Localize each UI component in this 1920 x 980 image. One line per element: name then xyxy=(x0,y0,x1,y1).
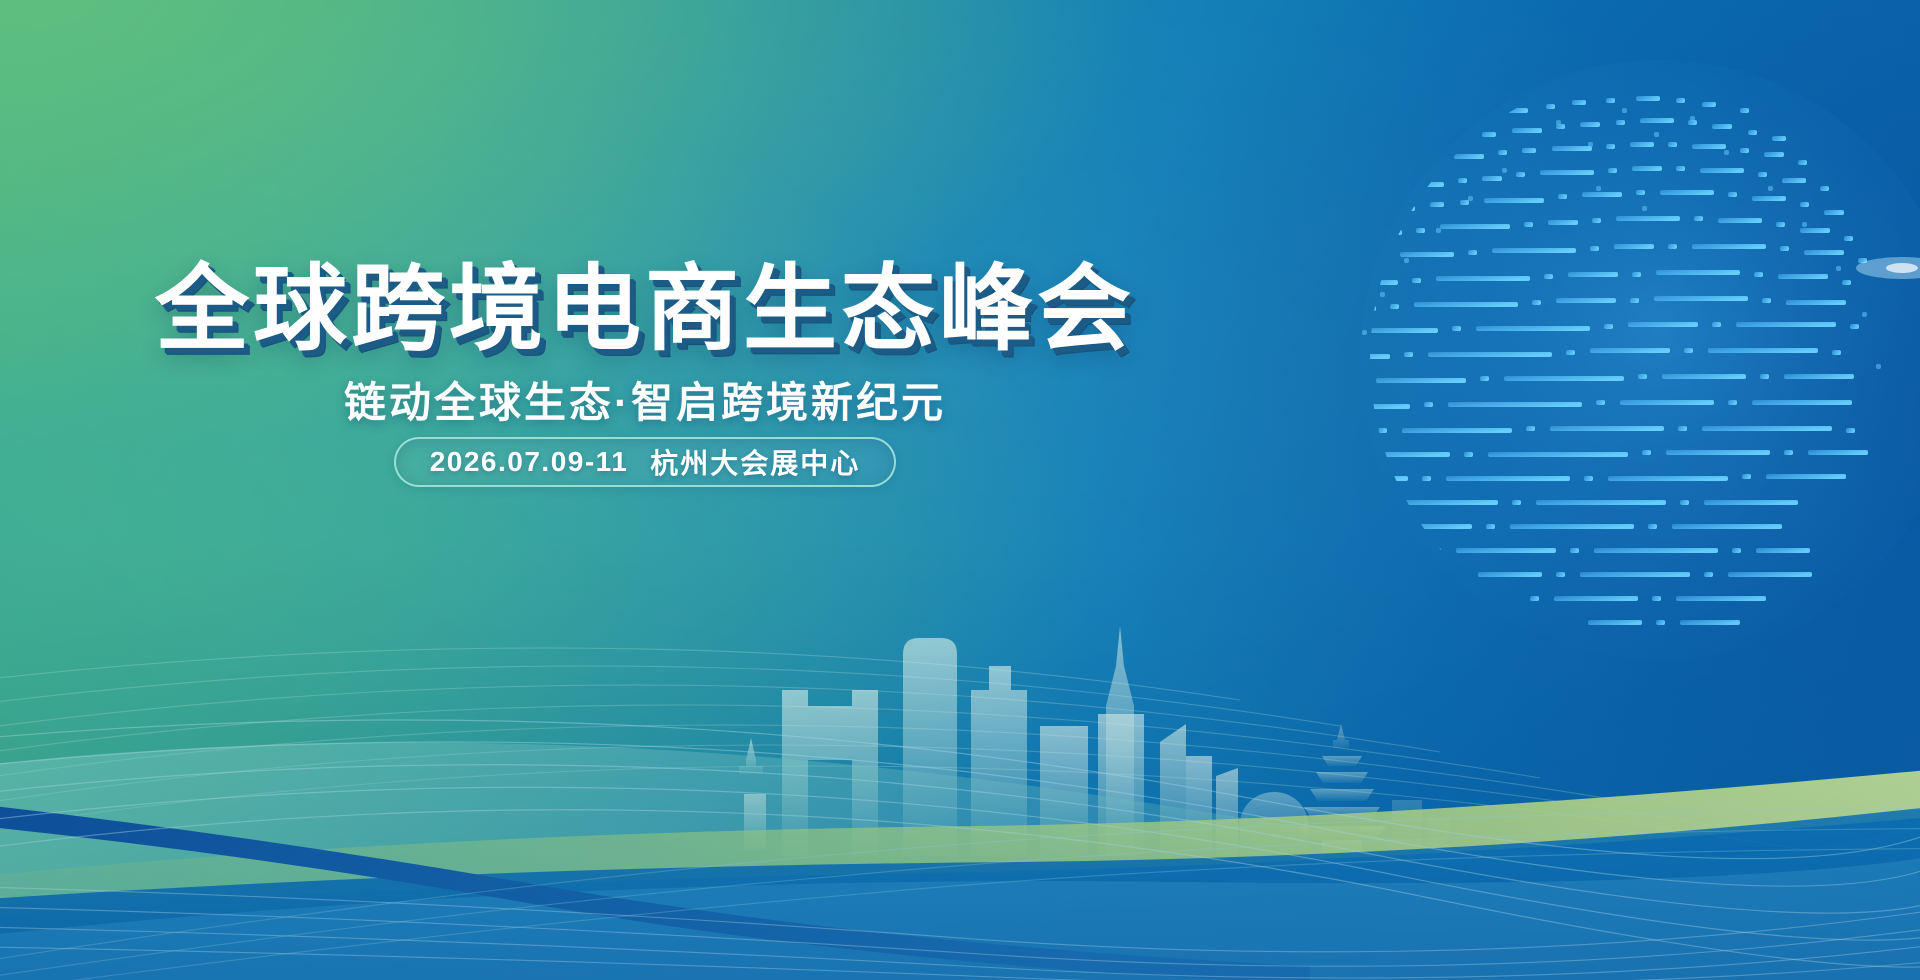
event-info-badge: 2026.07.09-11 杭州大会展中心 xyxy=(394,437,897,487)
event-venue: 杭州大会展中心 xyxy=(650,442,860,482)
meta-row: 2026.07.09-11 杭州大会展中心 xyxy=(0,437,1290,487)
title-row: 全球跨境电商生态峰会 xyxy=(0,262,1290,356)
event-date: 2026.07.09-11 xyxy=(430,446,629,478)
page-title: 全球跨境电商生态峰会 xyxy=(155,262,1135,356)
page-subtitle: 链动全球生态·智启跨境新纪元 xyxy=(344,382,946,424)
subtitle-row: 链动全球生态·智启跨境新纪元 xyxy=(0,382,1290,424)
banner-content: 全球跨境电商生态峰会 链动全球生态·智启跨境新纪元 2026.07.09-11 … xyxy=(0,0,1290,980)
conference-banner: 全球跨境电商生态峰会 链动全球生态·智启跨境新纪元 2026.07.09-11 … xyxy=(0,0,1920,980)
